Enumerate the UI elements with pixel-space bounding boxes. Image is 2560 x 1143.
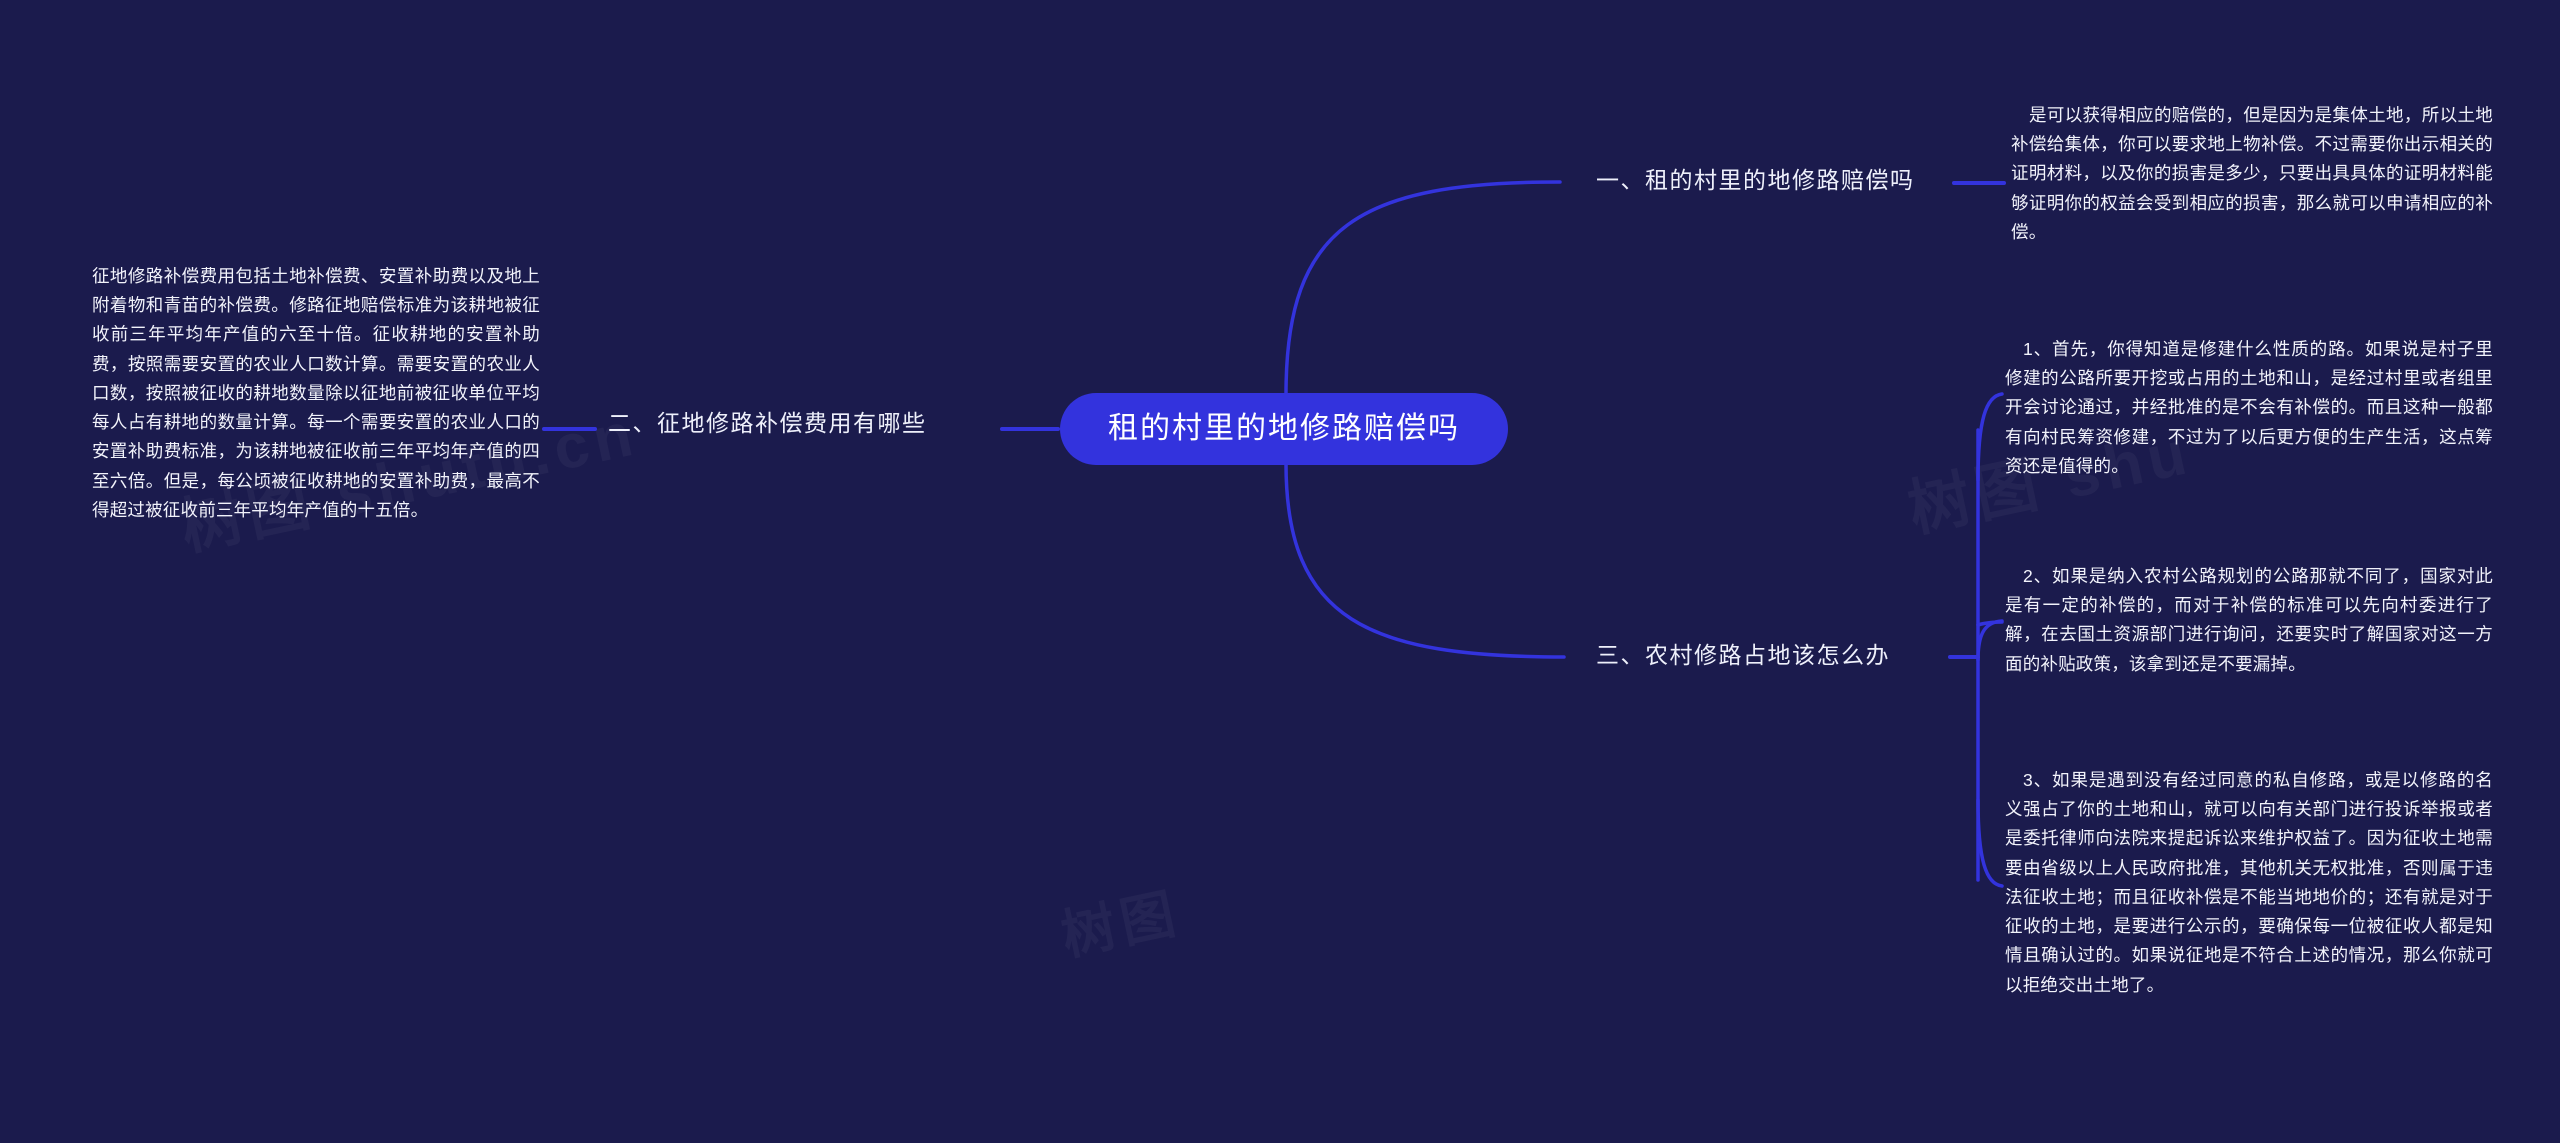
- branch-label-2[interactable]: 二、征地修路补偿费用有哪些: [608, 412, 927, 435]
- link-spine-leaf-r3: [1978, 622, 2002, 625]
- watermark-center: 树图: [1053, 868, 1187, 970]
- link-root-branch-1: [1286, 182, 1560, 394]
- leaf-block-rented-land-answer[interactable]: 是可以获得相应的赔偿的，但是因为是集体土地，所以土地补偿给集体，你可以要求地上物…: [2011, 101, 2493, 247]
- link-spine-leaf-r2: [1978, 394, 2002, 480]
- link-spine-leaf-r4: [1978, 800, 2002, 886]
- mindmap-canvas: 树图 shutu.cn 树图 shu 树图 租的村里的地修路赔偿吗 一、租的村里…: [0, 0, 2560, 1143]
- root-node[interactable]: 租的村里的地修路赔偿吗: [1060, 393, 1508, 465]
- leaf-block-point-2[interactable]: 2、如果是纳入农村公路规划的公路那就不同了，国家对此是有一定的补偿的，而对于补偿…: [2005, 562, 2493, 679]
- link-spine-leaf-r3-curve: [1978, 621, 2002, 660]
- leaf-block-compensation-items[interactable]: 征地修路补偿费用包括土地补偿费、安置补助费以及地上附着物和青苗的补偿费。修路征地…: [92, 262, 540, 525]
- leaf-block-point-1[interactable]: 1、首先，你得知道是修建什么性质的路。如果说是村子里修建的公路所要开挖或占用的土…: [2005, 335, 2493, 481]
- link-root-branch-3: [1286, 464, 1564, 657]
- branch-label-1[interactable]: 一、租的村里的地修路赔偿吗: [1596, 169, 1915, 192]
- leaf-block-point-3[interactable]: 3、如果是遇到没有经过同意的私自修路，或是以修路的名义强占了你的土地和山，就可以…: [2005, 766, 2493, 1000]
- root-node-label: 租的村里的地修路赔偿吗: [1108, 414, 1460, 444]
- branch-label-3[interactable]: 三、农村修路占地该怎么办: [1596, 644, 1890, 667]
